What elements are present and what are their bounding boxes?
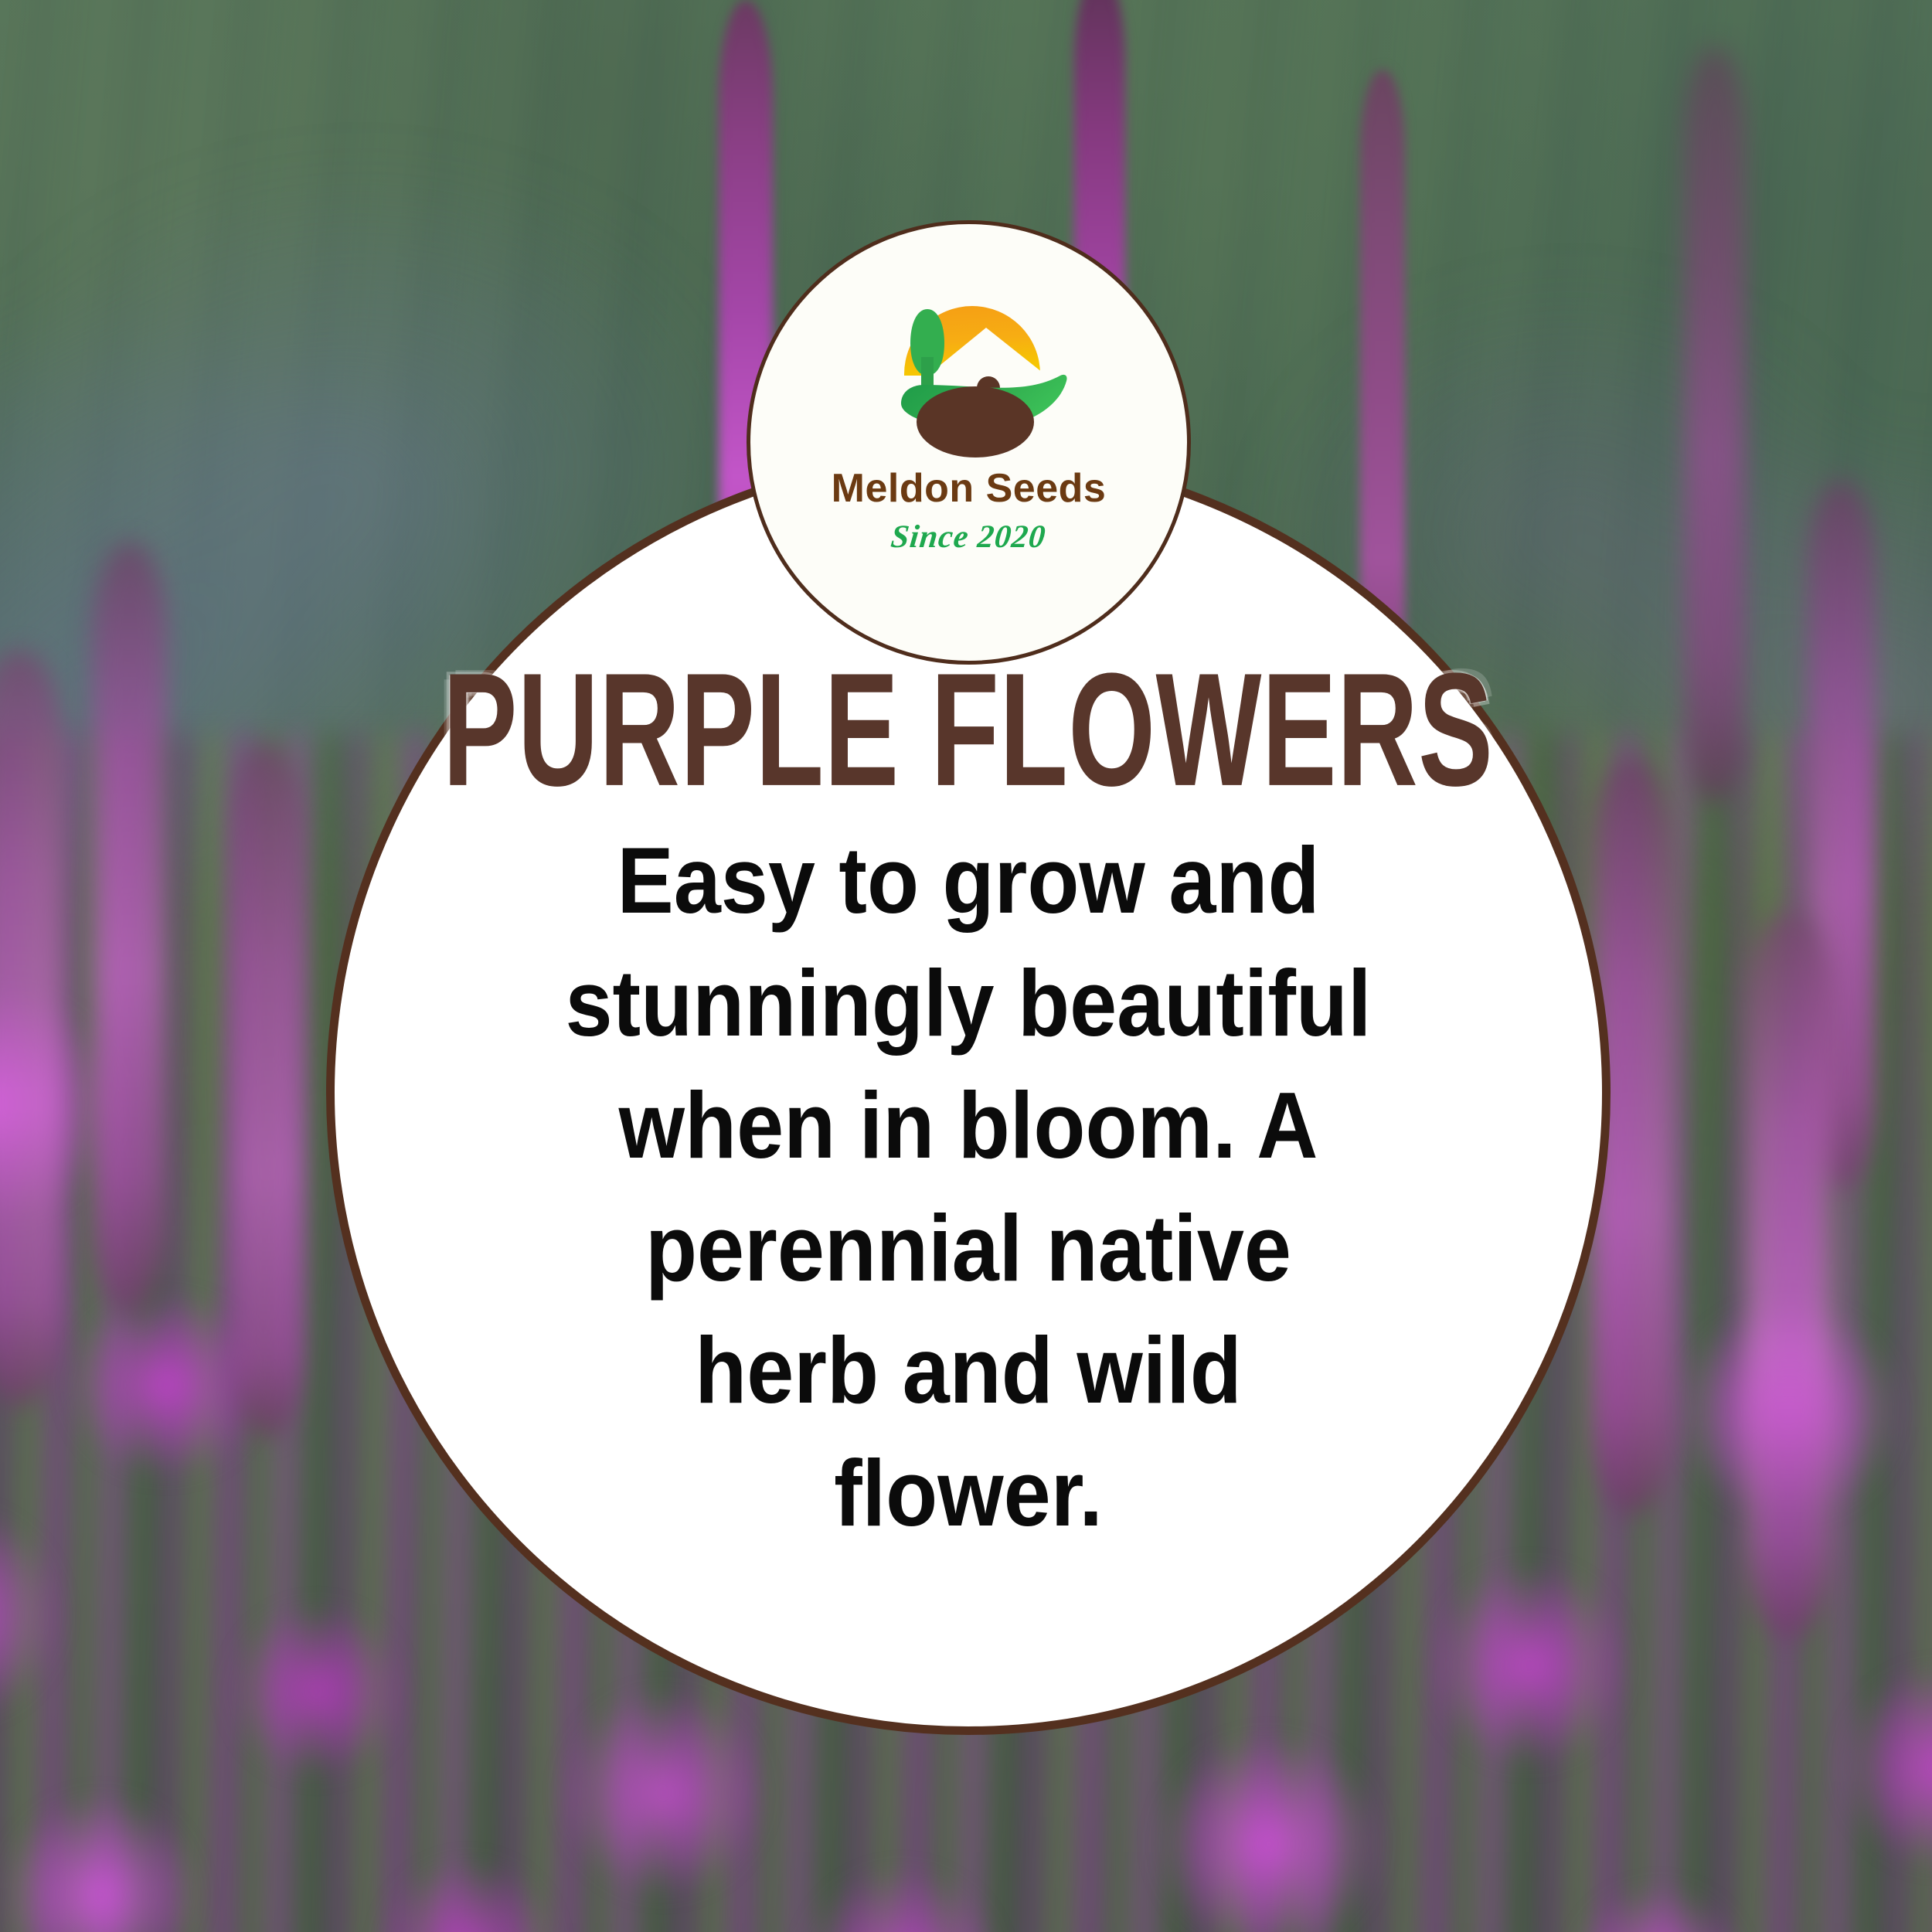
flower-spike xyxy=(232,742,303,1437)
product-poster: PURPLE FLOWERS Easy to grow and stunning… xyxy=(0,0,1932,1932)
description-text: Easy to grow and stunningly beautiful wh… xyxy=(558,819,1379,1555)
flower-spike xyxy=(1685,46,1745,804)
flower-spike xyxy=(1747,912,1832,1638)
logo-tagline: Since 2020 xyxy=(889,521,1048,553)
brand-logo-badge[interactable]: Meldon Seeds Since 2020 xyxy=(747,220,1191,665)
farmhouse-sun-leaf-seed-icon xyxy=(853,258,1085,467)
logo-wordmark: Meldon Seeds xyxy=(832,468,1107,509)
seed-soil-shape xyxy=(917,386,1034,457)
flower-spike xyxy=(93,541,167,1314)
page-title: PURPLE FLOWERS xyxy=(443,656,1494,804)
flower-spike xyxy=(0,649,62,1406)
